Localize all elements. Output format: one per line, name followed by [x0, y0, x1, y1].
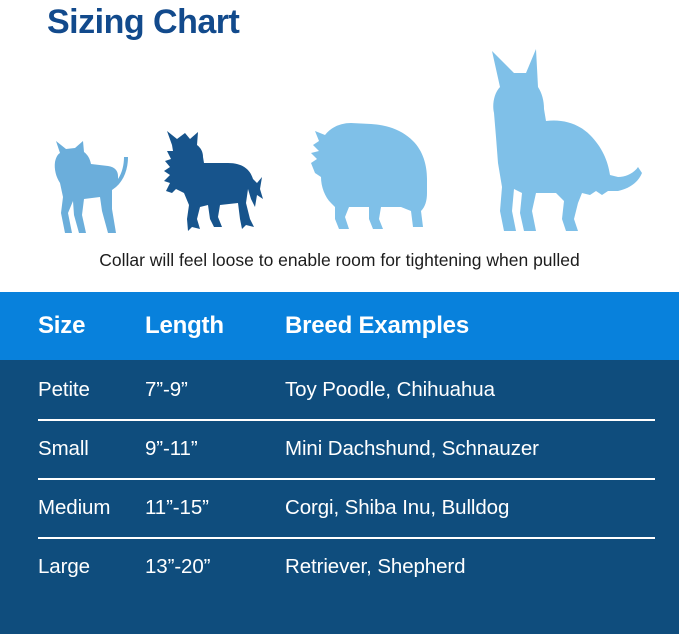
cell-length: 7”-9”	[145, 378, 285, 402]
cell-breeds: Toy Poodle, Chihuahua	[285, 378, 679, 402]
table-row: Petite 7”-9” Toy Poodle, Chihuahua	[0, 360, 679, 419]
column-header-breed: Breed Examples	[285, 312, 679, 340]
cell-size: Large	[0, 555, 145, 579]
shepherd-silhouette	[470, 43, 645, 235]
cell-length: 9”-11”	[145, 437, 285, 461]
cell-length: 13”-20”	[145, 555, 285, 579]
table-row: Small 9”-11” Mini Dachshund, Schnauzer	[0, 419, 679, 478]
sizing-chart-page: Sizing Chart Collar will feel loo	[0, 0, 679, 634]
column-header-length: Length	[145, 312, 285, 340]
sizing-table: Size Length Breed Examples Petite 7”-9” …	[0, 292, 679, 634]
schnauzer-silhouette	[150, 123, 270, 235]
cell-breeds: Corgi, Shiba Inu, Bulldog	[285, 496, 679, 520]
bulldog-silhouette	[305, 107, 435, 235]
caption-text: Collar will feel loose to enable room fo…	[0, 248, 679, 272]
table-row: Large 13”-20” Retriever, Shepherd	[0, 537, 679, 596]
chihuahua-silhouette	[42, 135, 132, 235]
cell-size: Small	[0, 437, 145, 461]
table-header-row: Size Length Breed Examples	[0, 292, 679, 360]
cell-size: Petite	[0, 378, 145, 402]
cell-size: Medium	[0, 496, 145, 520]
column-header-size: Size	[0, 312, 145, 340]
cell-breeds: Mini Dachshund, Schnauzer	[285, 437, 679, 461]
cell-breeds: Retriever, Shepherd	[285, 555, 679, 579]
cell-length: 11”-15”	[145, 496, 285, 520]
dog-silhouette-row	[0, 20, 679, 235]
table-row: Medium 11”-15” Corgi, Shiba Inu, Bulldog	[0, 478, 679, 537]
